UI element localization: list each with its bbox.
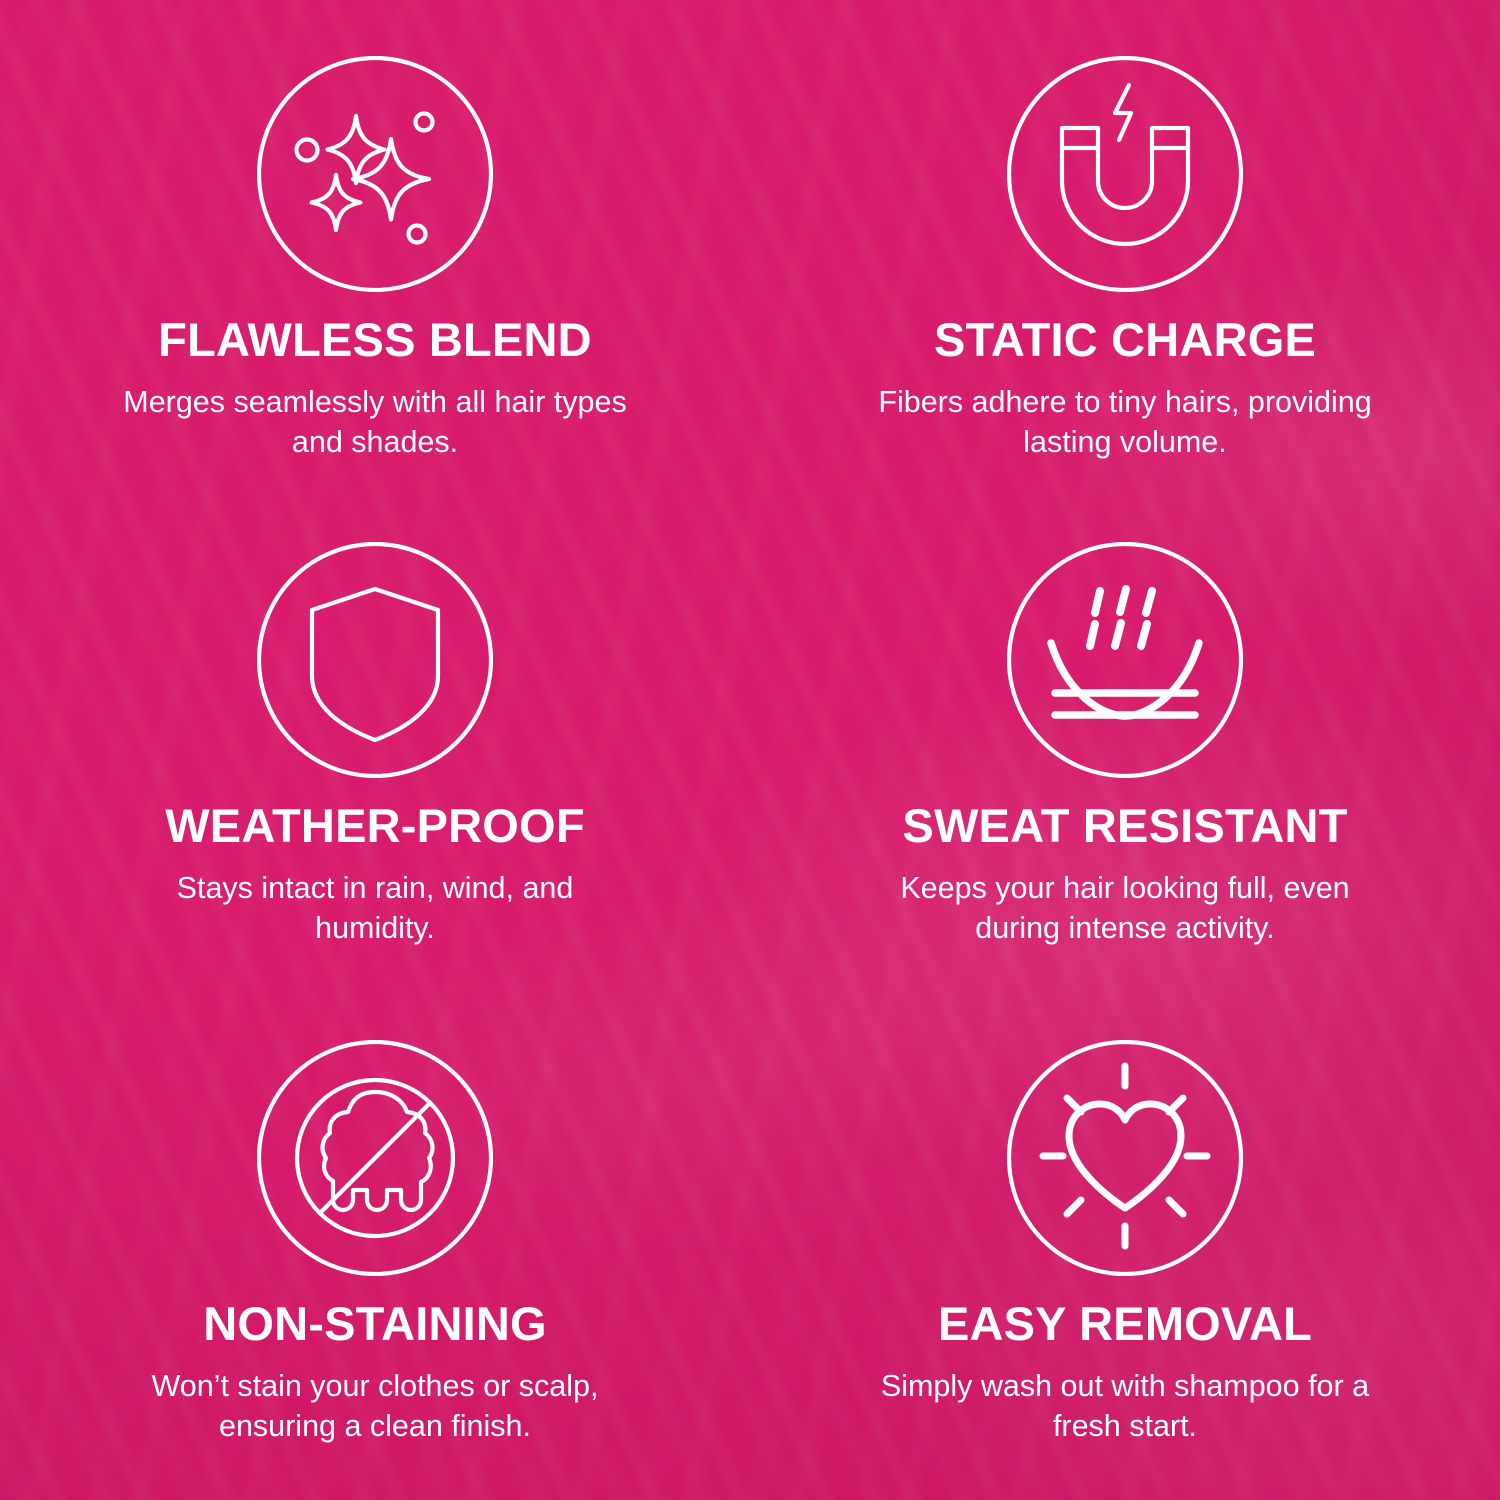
feature-card-non-staining: NON-STAINING Won’t stain your clothes or… <box>0 1000 750 1500</box>
feature-card-sweat-resistant: SWEAT RESISTANT Keeps your hair looking … <box>750 500 1500 1000</box>
feature-title: STATIC CHARGE <box>934 316 1316 364</box>
no-stain-icon <box>257 1040 493 1276</box>
feature-description: Simply wash out with shampoo for a fresh… <box>865 1367 1385 1446</box>
feature-card-flawless-blend: FLAWLESS BLEND Merges seamlessly with al… <box>0 0 750 500</box>
feature-title: EASY REMOVAL <box>938 1300 1312 1348</box>
feature-description: Merges seamlessly with all hair types an… <box>115 383 635 462</box>
magnet-icon <box>1007 56 1243 292</box>
feature-description: Stays intact in rain, wind, and humidity… <box>115 869 635 948</box>
feature-title: WEATHER-PROOF <box>165 802 584 850</box>
shining-heart-icon <box>1007 1040 1243 1276</box>
feature-title: FLAWLESS BLEND <box>158 316 592 364</box>
feature-title: NON-STAINING <box>203 1300 547 1348</box>
shield-icon <box>257 542 493 778</box>
feature-card-easy-removal: EASY REMOVAL Simply wash out with shampo… <box>750 1000 1500 1500</box>
water-repellent-icon <box>1007 542 1243 778</box>
infographic-root: FLAWLESS BLEND Merges seamlessly with al… <box>0 0 1500 1500</box>
feature-card-static-charge: STATIC CHARGE Fibers adhere to tiny hair… <box>750 0 1500 500</box>
feature-title: SWEAT RESISTANT <box>902 802 1347 850</box>
feature-grid: FLAWLESS BLEND Merges seamlessly with al… <box>0 0 1500 1500</box>
feature-description: Fibers adhere to tiny hairs, providing l… <box>865 383 1385 462</box>
feature-description: Won’t stain your clothes or scalp, ensur… <box>115 1367 635 1446</box>
sparkle-icon <box>257 56 493 292</box>
feature-card-weather-proof: WEATHER-PROOF Stays intact in rain, wind… <box>0 500 750 1000</box>
feature-description: Keeps your hair looking full, even durin… <box>865 869 1385 948</box>
